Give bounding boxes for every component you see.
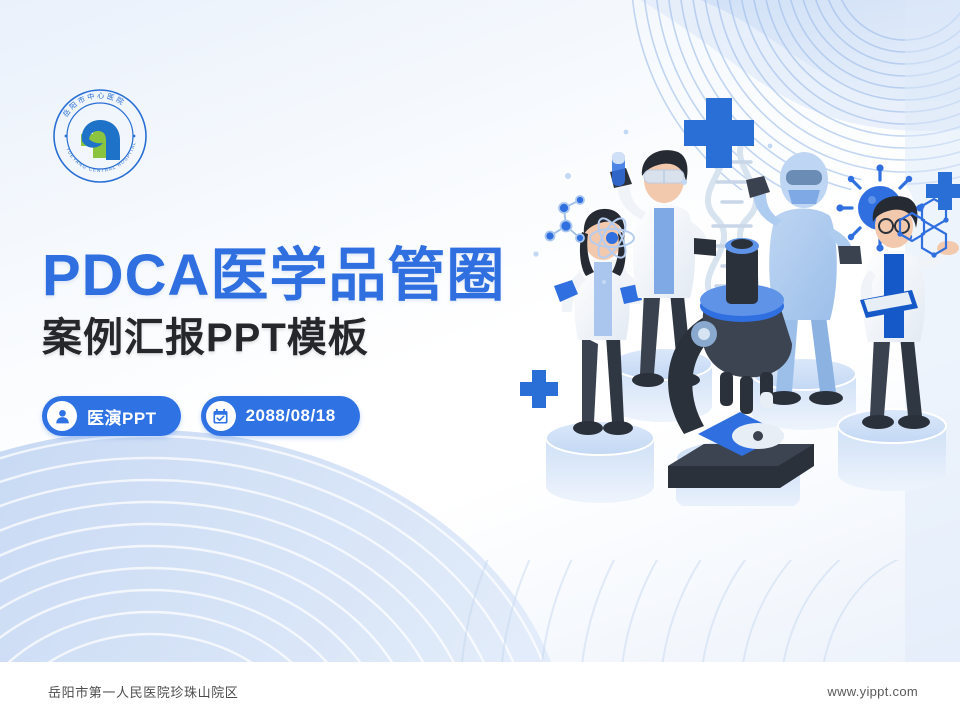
footer-website[interactable]: www.yippt.com xyxy=(827,684,918,699)
footer-hospital-name: 岳阳市第一人民医院珍珠山院区 xyxy=(48,682,238,701)
plus-cross-small-right xyxy=(926,172,960,210)
author-badge[interactable]: 医演PPT xyxy=(42,396,181,436)
medical-lab-team-illustration xyxy=(508,86,960,506)
date-label: 2088/08/18 xyxy=(246,406,340,426)
svg-text:岳阳市中心医院: 岳阳市中心医院 xyxy=(61,91,127,119)
author-label: 医演PPT xyxy=(87,404,161,429)
plus-cross-small-left xyxy=(520,370,558,408)
date-badge[interactable]: 2088/08/18 xyxy=(201,396,360,436)
user-icon xyxy=(47,401,77,431)
footer: 岳阳市第一人民医院珍珠山院区 www.yippt.com xyxy=(0,662,960,720)
hospital-logo: 岳阳市中心医院 YUEYANG CENTRAL HOSPITAL xyxy=(48,84,152,188)
meta-badges: 医演PPT 2088/08/18 xyxy=(42,396,360,436)
molecule-structure xyxy=(546,196,585,242)
calendar-check-icon xyxy=(206,401,236,431)
presentation-slide: 岳阳市中心医院 YUEYANG CENTRAL HOSPITAL PDCA医学品… xyxy=(0,0,960,720)
logo-arc-top-text: 岳阳市中心医院 xyxy=(61,91,127,119)
cylinder-platform-left xyxy=(546,421,654,503)
